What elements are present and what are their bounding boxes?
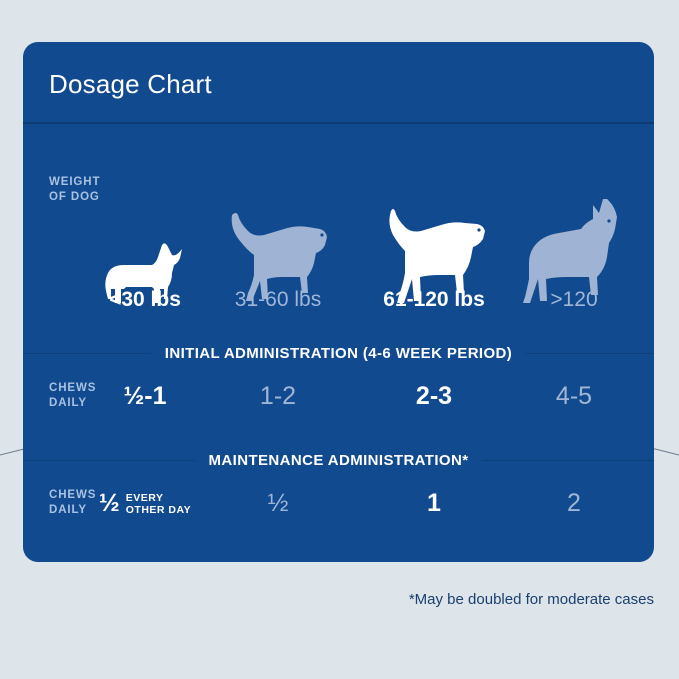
title-divider	[23, 122, 654, 124]
dose-cell-maintenance-4: 2	[567, 491, 581, 516]
chews-label-line-1b: CHEWS	[49, 488, 96, 503]
dose-cell-initial-4: 4-5	[556, 384, 592, 409]
section-rule-right	[526, 353, 654, 355]
dose-cell-maintenance-3: 1	[427, 491, 441, 516]
footnote: *May be doubled for moderate cases	[409, 591, 654, 608]
dose-cell-initial-2: 1-2	[260, 384, 296, 409]
section-title-maintenance: MAINTENANCE ADMINISTRATION*	[209, 452, 469, 469]
dose-suffix-line-2: OTHER DAY	[126, 504, 191, 516]
dose-value-initial-1: ½-1	[123, 382, 166, 410]
dose-value-initial-4: 4-5	[556, 382, 592, 410]
dose-suffix-line-1: EVERY	[126, 492, 191, 504]
dose-cell-maintenance-1: ½ EVERY OTHER DAY	[99, 491, 191, 516]
dose-cell-initial-3: 2-3	[416, 384, 452, 409]
dose-suffix-maintenance-1: EVERY OTHER DAY	[126, 492, 191, 516]
weight-label-line-1: WEIGHT	[49, 175, 100, 190]
chews-label-line-2: DAILY	[49, 396, 96, 411]
section-header-maintenance: MAINTENANCE ADMINISTRATION*	[23, 452, 654, 469]
dose-compound-maintenance-1: ½ EVERY OTHER DAY	[99, 491, 191, 516]
weight-column-4: >120	[550, 289, 597, 311]
dose-cell-initial-1: ½-1	[123, 384, 166, 409]
dose-value-maintenance-2: ½	[268, 489, 289, 517]
dose-cell-maintenance-2: ½	[268, 491, 289, 516]
chews-label-line-2b: DAILY	[49, 503, 96, 518]
weight-value-3: 61-120 lbs	[383, 288, 485, 311]
dose-value-maintenance-3: 1	[427, 489, 441, 517]
dosage-chart-card: Dosage Chart WEIGHT OF DOG	[23, 42, 654, 562]
weight-column-1: <30 lbs	[109, 289, 181, 311]
weight-column-3: 61-120 lbs	[383, 289, 485, 311]
weight-value-4: >120	[550, 288, 597, 311]
dose-value-initial-3: 2-3	[416, 382, 452, 410]
section-title-initial: INITIAL ADMINISTRATION (4-6 WEEK PERIOD)	[165, 345, 512, 362]
weight-column-2: 31-60 lbs	[235, 289, 321, 311]
page-title: Dosage Chart	[23, 42, 654, 100]
section-rule-left-2	[23, 460, 195, 462]
chews-daily-label-initial: CHEWS DAILY	[49, 381, 96, 411]
dose-value-maintenance-4: 2	[567, 489, 581, 517]
chews-label-line-1: CHEWS	[49, 381, 96, 396]
weight-value-2: 31-60 lbs	[235, 288, 321, 311]
section-header-initial: INITIAL ADMINISTRATION (4-6 WEEK PERIOD)	[23, 345, 654, 362]
weight-value-1: <30 lbs	[109, 288, 181, 311]
section-rule-right-2	[482, 460, 654, 462]
chews-daily-label-maintenance: CHEWS DAILY	[49, 488, 96, 518]
dose-value-maintenance-1: ½	[99, 491, 120, 516]
dose-value-initial-2: 1-2	[260, 382, 296, 410]
section-rule-left	[23, 353, 151, 355]
